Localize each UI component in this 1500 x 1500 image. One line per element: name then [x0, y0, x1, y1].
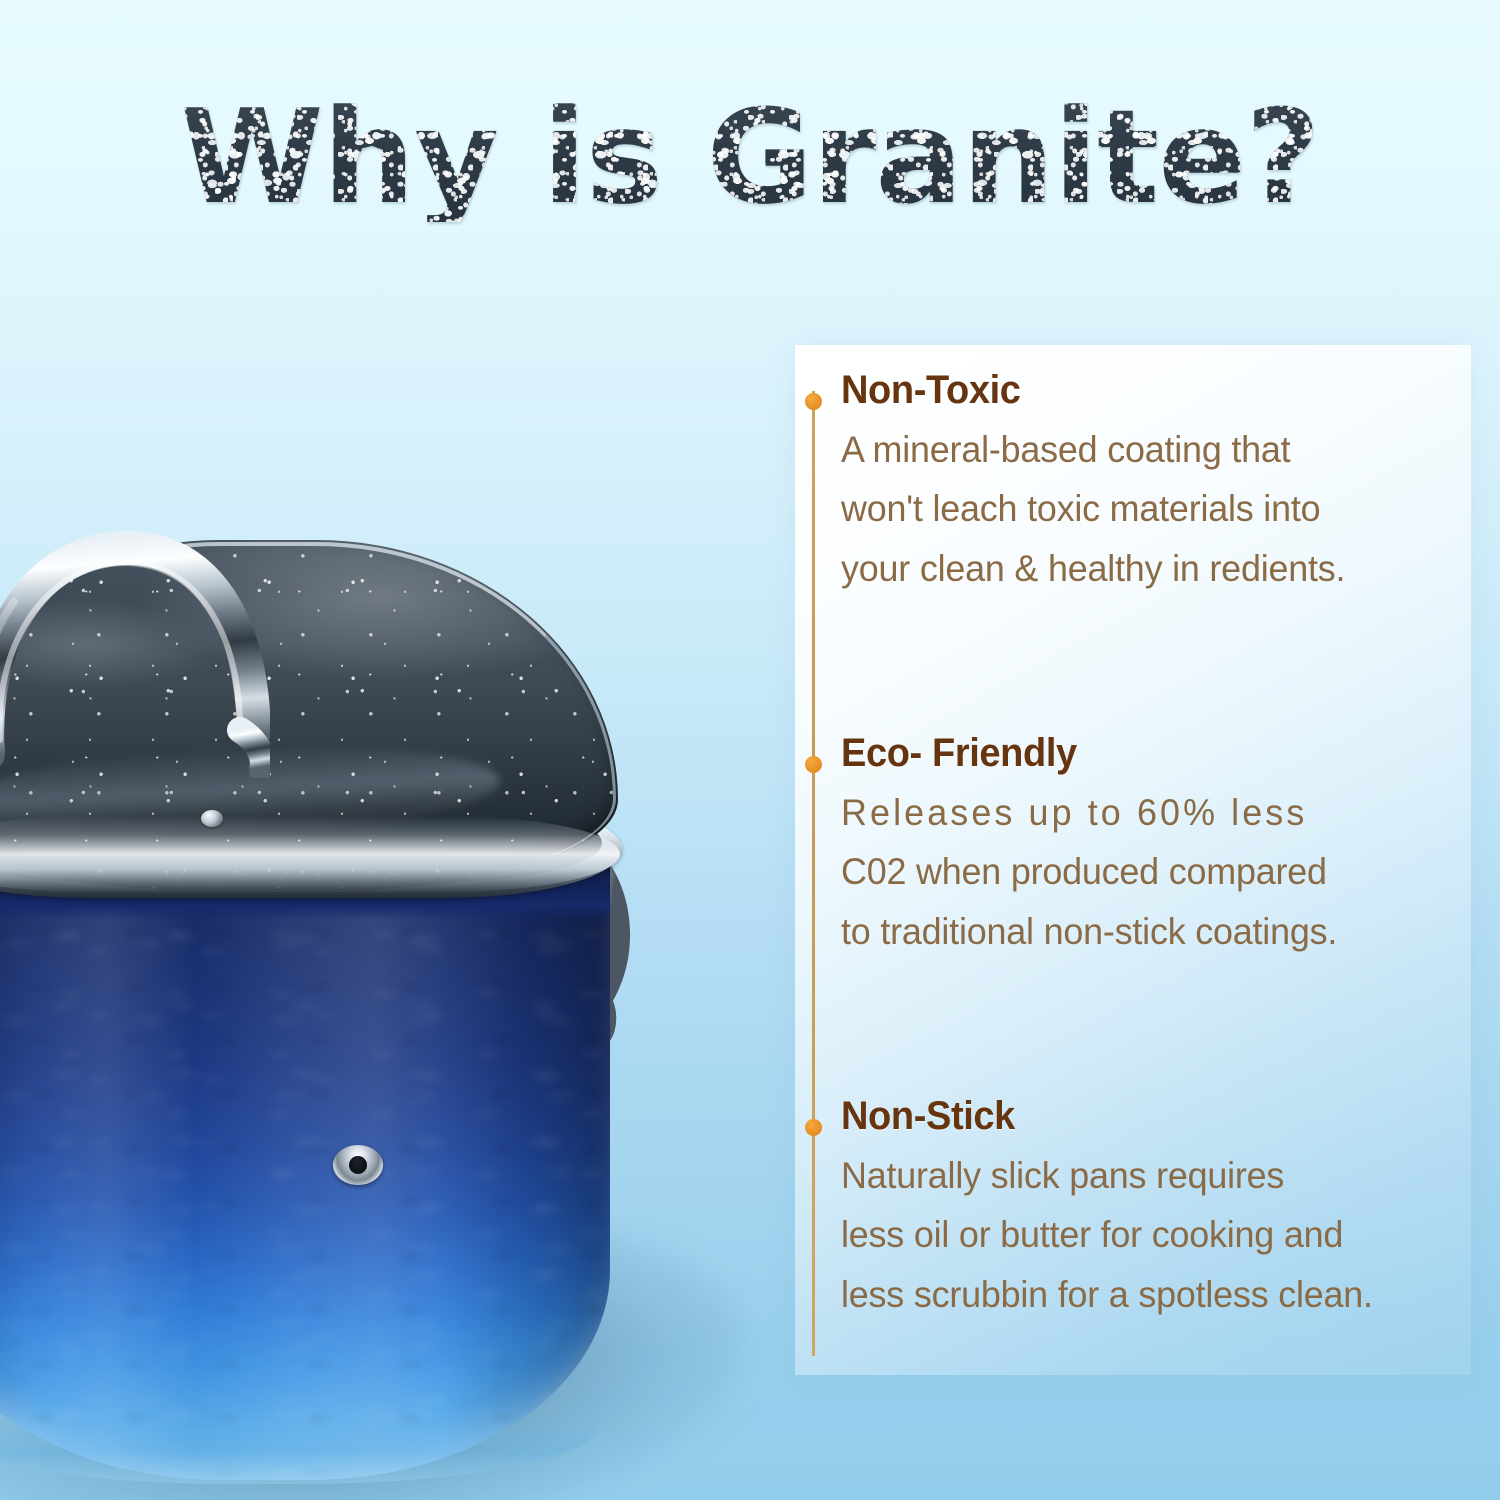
features-panel: Non-Toxic A mineral-based coating that w… — [795, 345, 1471, 1375]
page-title: Why is Granite? — [0, 92, 1500, 222]
feature-description: Releases up to 60% less C02 when produce… — [841, 783, 1435, 961]
lid-loop-handle-icon — [0, 518, 270, 778]
feature-description: Naturally slick pans requires less oil o… — [841, 1146, 1435, 1324]
feature-description-line: less oil or butter for cooking and — [841, 1205, 1435, 1264]
lid-chrome-band — [0, 816, 620, 892]
feature-item-non-toxic: Non-Toxic A mineral-based coating that w… — [795, 367, 1471, 598]
feature-item-non-stick: Non-Stick Naturally slick pans requires … — [795, 1093, 1471, 1324]
bullet-dot-icon — [805, 1119, 822, 1136]
lid-handle-rivet — [201, 810, 223, 827]
feature-title: Non-Toxic — [841, 367, 1440, 414]
feature-description-line: Releases up to 60% less — [841, 783, 1435, 842]
feature-description: A mineral-based coating that won't leach… — [841, 420, 1435, 598]
feature-description-line: to traditional non-stick coatings. — [841, 902, 1435, 961]
feature-description-line: won't leach toxic materials into — [841, 479, 1435, 538]
feature-description-line: A mineral-based coating that — [841, 420, 1435, 479]
bullet-dot-icon — [805, 756, 822, 773]
feature-description-line: your clean & healthy in redients. — [841, 539, 1435, 598]
pot-body — [0, 860, 610, 1480]
feature-description-line: C02 when produced compared — [841, 842, 1435, 901]
infographic-canvas: Why is Granite? — [0, 0, 1500, 1500]
product-image-stockpot — [0, 330, 800, 1460]
feature-description-line: less scrubbin for a spotless clean. — [841, 1265, 1435, 1324]
page-title-text: Why is Granite? — [180, 92, 1320, 222]
steam-vent-grommet — [333, 1145, 383, 1185]
feature-title: Non-Stick — [841, 1093, 1440, 1140]
bullet-dot-icon — [805, 393, 822, 410]
feature-title: Eco- Friendly — [841, 730, 1440, 777]
feature-item-eco-friendly: Eco- Friendly Releases up to 60% less C0… — [795, 730, 1471, 961]
feature-description-line: Naturally slick pans requires — [841, 1146, 1435, 1205]
